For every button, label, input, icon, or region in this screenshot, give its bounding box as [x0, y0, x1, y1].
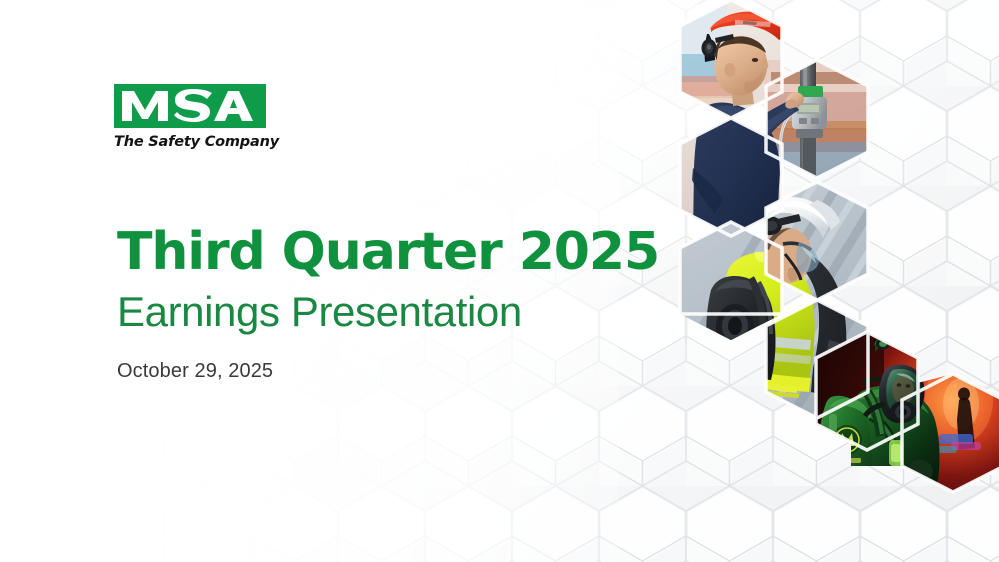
- presentation-slide: The Safety Company Third Quarter 2025 Ea…: [0, 0, 999, 562]
- msa-wordmark-icon: [120, 89, 260, 123]
- title-block: Third Quarter 2025 Earnings Presentation…: [117, 226, 659, 383]
- msa-logo-mark: [114, 84, 266, 128]
- slide-title: Third Quarter 2025: [117, 226, 659, 278]
- slide-date: October 29, 2025: [117, 360, 659, 383]
- msa-logo: The Safety Company: [114, 84, 266, 150]
- slide-subtitle: Earnings Presentation: [117, 290, 659, 334]
- msa-logo-tagline: The Safety Company: [114, 134, 266, 150]
